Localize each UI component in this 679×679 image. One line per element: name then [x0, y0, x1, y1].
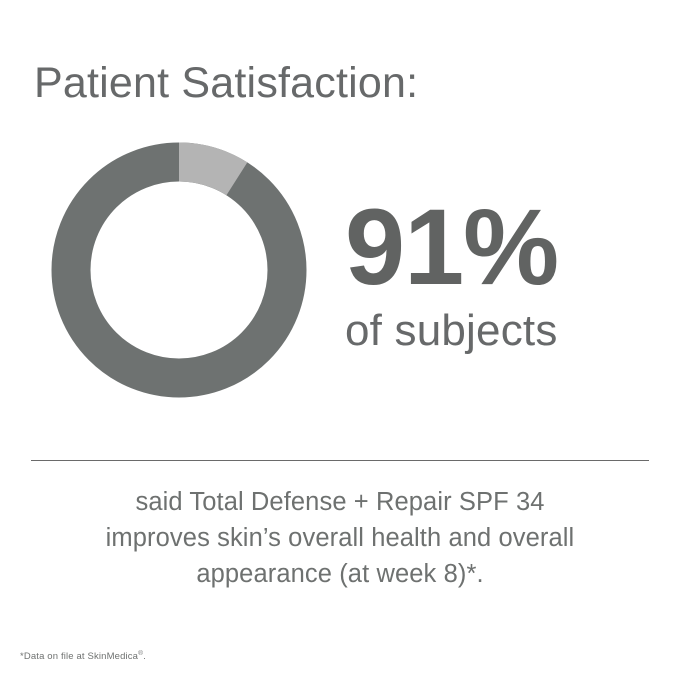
- donut-chart-svg: [51, 142, 307, 398]
- infographic-page: Patient Satisfaction: 91% of subjects sa…: [0, 0, 679, 679]
- footnote-text: *Data on file at SkinMedica: [20, 651, 138, 662]
- footnote-suffix: .: [143, 651, 146, 662]
- stat-label: of subjects: [345, 307, 645, 355]
- divider: [31, 460, 649, 461]
- body-copy-line-1: said Total Defense + Repair SPF 34: [40, 484, 640, 520]
- donut-chart: [51, 142, 307, 398]
- body-copy: said Total Defense + Repair SPF 34 impro…: [40, 484, 640, 593]
- footnote: *Data on file at SkinMedica®.: [20, 650, 146, 662]
- donut-segment-satisfied: [71, 162, 287, 378]
- stat-block: 91% of subjects: [345, 196, 645, 355]
- body-copy-line-2: improves skin’s overall health and overa…: [40, 520, 640, 556]
- page-title: Patient Satisfaction:: [34, 59, 418, 108]
- stat-value: 91%: [345, 196, 645, 299]
- body-copy-line-3: appearance (at week 8)*.: [40, 556, 640, 592]
